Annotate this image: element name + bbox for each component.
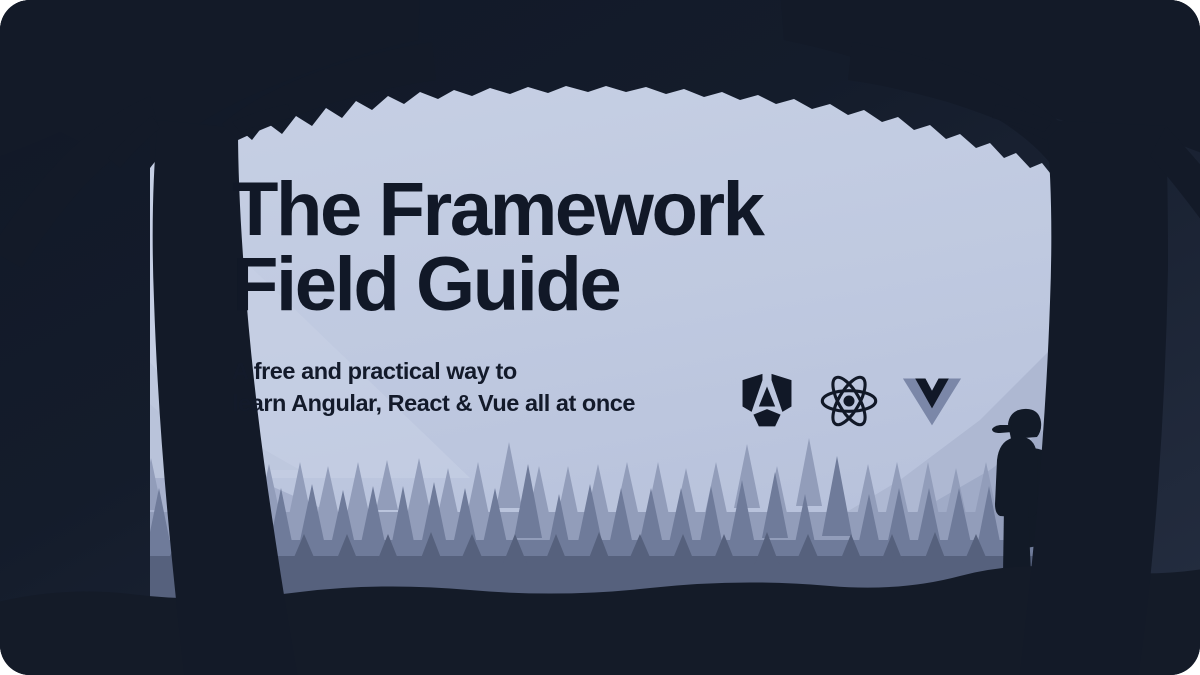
framework-logo-row	[738, 372, 962, 430]
angular-logo	[738, 372, 796, 430]
page-title: The Framework Field Guide	[232, 172, 892, 322]
vue-logo	[902, 374, 962, 428]
react-logo	[818, 372, 880, 430]
hero-card: The Framework Field Guide A free and pra…	[0, 0, 1200, 675]
